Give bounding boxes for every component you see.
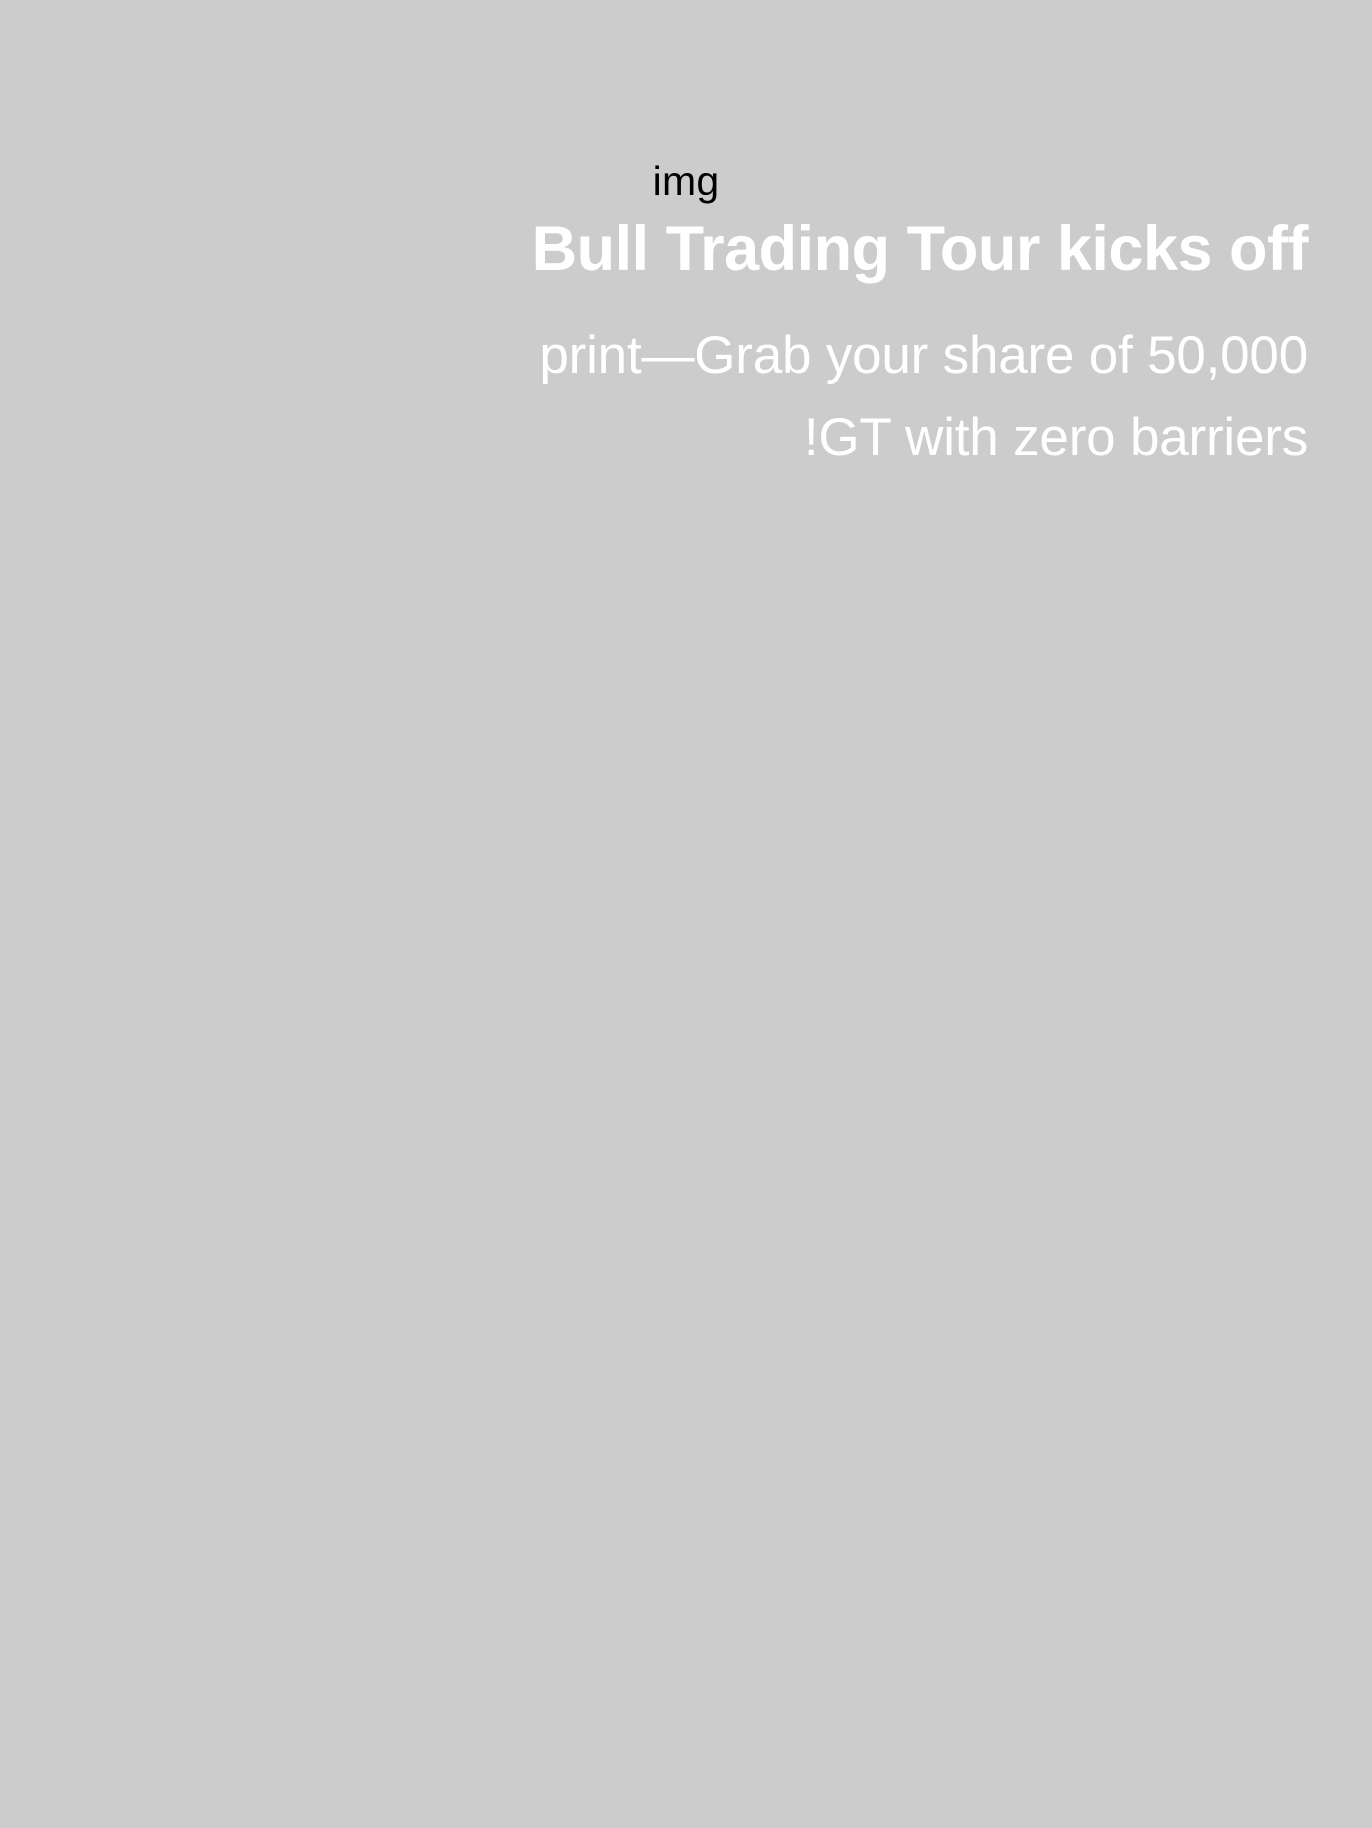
hero-subheadline-line-1: print—Grab your share of 50,000 (0, 315, 1308, 398)
hero-subheadline-line-2: !GT with zero barriers (0, 397, 1308, 480)
empty-content-region (0, 600, 1372, 1828)
hero-text-block: Bull Trading Tour kicks off print—Grab y… (0, 214, 1372, 480)
broken-image-icon: img (653, 161, 720, 202)
hero-banner-page: img Bull Trading Tour kicks off print—Gr… (0, 0, 1372, 1828)
hero-headline: Bull Trading Tour kicks off (0, 214, 1308, 285)
hero-subheadline: print—Grab your share of 50,000 !GT with… (0, 315, 1308, 480)
broken-image-placeholder: img (0, 0, 1372, 210)
